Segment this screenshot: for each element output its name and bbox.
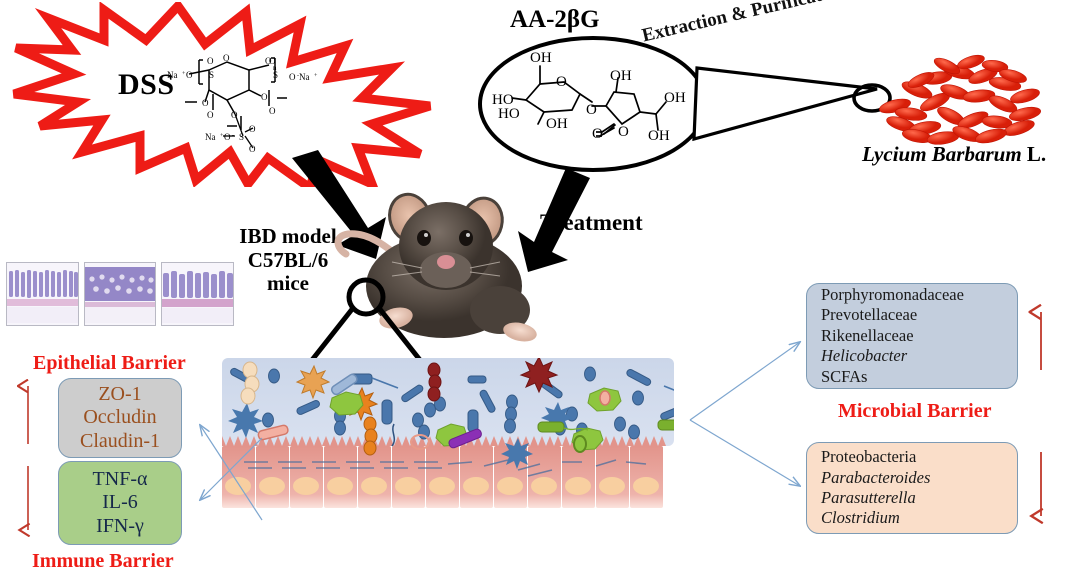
microbial-barrier-caption: Microbial Barrier <box>838 400 991 423</box>
increased-taxa-item: Prevotellaceae <box>821 305 917 325</box>
compound-label: AA-2βG <box>510 6 600 34</box>
svg-text:Na: Na <box>299 72 310 82</box>
epithelial-marker-item: Claudin-1 <box>80 430 160 453</box>
svg-text:O: O <box>556 74 567 90</box>
svg-text:O: O <box>618 124 629 140</box>
svg-text:-: - <box>194 71 196 77</box>
increased-taxa-item: SCFAs <box>821 367 867 387</box>
decreased-taxa-box: Proteobacteria Parabacteroides Parasutte… <box>806 442 1018 534</box>
immune-marker-item: IFN-γ <box>96 515 144 538</box>
svg-text:O: O <box>592 126 603 142</box>
histology-panel: C <box>6 262 79 326</box>
decreased-taxa-item: Proteobacteria <box>821 447 916 467</box>
svg-text:OH: OH <box>648 128 670 144</box>
svg-text:O: O <box>249 144 256 154</box>
svg-text:O: O <box>586 102 597 118</box>
svg-text:O: O <box>202 98 209 108</box>
graphical-abstract: DSS O O n Na+ O- O S O O <box>0 0 1081 586</box>
epithelial-marker-item: Occludin <box>83 406 156 429</box>
svg-text:O: O <box>224 132 231 142</box>
immune-marker-item: IL-6 <box>102 491 138 514</box>
immune-markers-box: TNF-α IL-6 IFN-γ <box>58 461 182 545</box>
svg-text:OH: OH <box>546 116 568 132</box>
svg-text:Na: Na <box>167 70 178 80</box>
histology-panels: C D <box>6 262 234 340</box>
svg-text:O: O <box>269 106 276 116</box>
svg-text:O: O <box>261 92 268 102</box>
extraction-label: Extraction & Purification <box>640 0 849 47</box>
svg-text:Na: Na <box>205 132 216 142</box>
svg-text:O: O <box>207 56 214 66</box>
decreased-taxa-item: Parabacteroides <box>821 468 930 488</box>
epithelial-marker-item: ZO-1 <box>98 383 141 406</box>
goji-berries-image <box>855 40 1060 150</box>
svg-text:O: O <box>207 110 214 120</box>
histology-panel: D <box>84 262 157 326</box>
source-name-label: Lycium Barbarum L. <box>862 142 1046 167</box>
increased-taxa-item: Porphyromonadaceae <box>821 285 964 305</box>
dss-chemical-structure: O O n Na+ O- O S O O O S O O O- Na+ O Na… <box>165 48 325 158</box>
svg-text:OH: OH <box>664 90 686 106</box>
increased-taxa-item: Helicobacter <box>821 346 907 366</box>
mouse-image <box>334 190 564 355</box>
svg-text:S: S <box>273 70 278 80</box>
immune-barrier-caption: Immune Barrier <box>32 550 174 573</box>
increased-taxa-box: Porphyromonadaceae Prevotellaceae Rikene… <box>806 283 1018 389</box>
svg-text:OH: OH <box>610 68 632 84</box>
svg-text:OH: OH <box>530 50 552 66</box>
svg-text:O: O <box>223 53 230 63</box>
gut-illustration <box>222 358 674 538</box>
histology-panel: A <box>161 262 234 326</box>
compound-chemical-structure: OH HO HO OH O O OH OH OH O O <box>488 44 693 156</box>
immune-marker-item: TNF-α <box>93 468 148 491</box>
source-name-italic: Lycium Barbarum <box>862 142 1022 166</box>
svg-text:+: + <box>314 73 318 79</box>
svg-text:O: O <box>269 56 276 66</box>
increased-taxa-item: Rikenellaceae <box>821 326 914 346</box>
svg-text:HO: HO <box>498 106 520 122</box>
decreased-taxa-item: Parasutterella <box>821 488 916 508</box>
epithelial-markers-box: ZO-1 Occludin Claudin-1 <box>58 378 182 458</box>
epithelial-barrier-caption: Epithelial Barrier <box>33 352 186 375</box>
svg-text:O: O <box>186 70 193 80</box>
svg-text:O: O <box>289 72 296 82</box>
decreased-taxa-item: Clostridium <box>821 508 900 528</box>
source-name-suffix: L. <box>1022 142 1047 166</box>
svg-text:S: S <box>209 70 214 80</box>
